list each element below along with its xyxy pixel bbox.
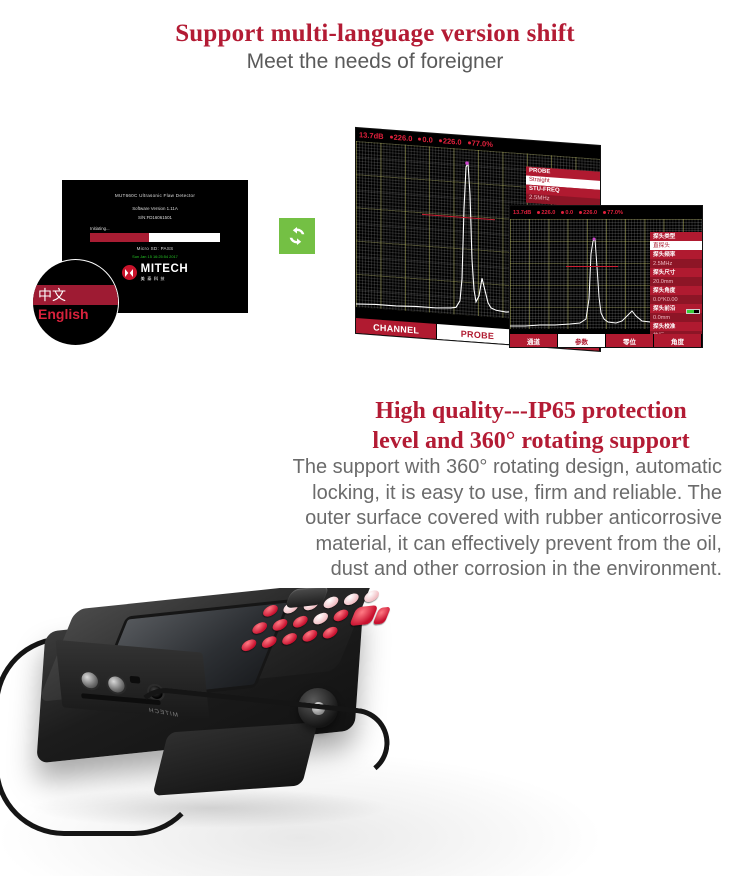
- keypad-key[interactable]: [362, 590, 381, 603]
- mitech-logo-en: MITECH: [141, 264, 189, 276]
- screen-cn-amplitude: 77.0%: [603, 210, 623, 216]
- keypad-key[interactable]: [250, 622, 269, 635]
- screen-cn-probe-type-value[interactable]: 直探头: [650, 241, 702, 250]
- language-option-english[interactable]: English: [38, 306, 89, 322]
- mitech-mark-icon: [122, 265, 137, 280]
- screen-cn-probe-size-value[interactable]: 20.0mm: [650, 277, 702, 286]
- screen-en-depth: 226.0: [439, 136, 462, 147]
- mitech-logo-cn: 美泰科技: [141, 277, 189, 281]
- mitech-wordmark: MITECH 美泰科技: [141, 264, 189, 281]
- screen-cn-ascan-plot: 探头类型 直探头 探头频率 2.5MHz 探头尺寸 20.0mm 探头角度 0.…: [510, 219, 702, 329]
- refresh-swap-icon[interactable]: [279, 218, 315, 254]
- screen-cn-probe-freq-value[interactable]: 2.5MHz: [650, 259, 702, 268]
- usb-port[interactable]: [130, 676, 141, 684]
- battery-icon: [686, 309, 700, 314]
- keypad-key[interactable]: [261, 604, 280, 617]
- language-option-chinese[interactable]: 中文: [33, 285, 118, 305]
- screen-cn-gate-line: [566, 266, 618, 267]
- screen-cn-menu-params[interactable]: 参数: [558, 334, 606, 347]
- screen-en-delay: 0.0: [418, 135, 432, 145]
- splash-progress-fill: [90, 233, 149, 242]
- splash-software-version: Software Version 1.11A: [62, 206, 248, 211]
- splash-initiating-label: Initiating...: [90, 226, 110, 231]
- bnc-connector-2[interactable]: [107, 676, 125, 693]
- screen-en-amplitude: 77.0%: [468, 138, 493, 149]
- screen-cn-probe-type-label[interactable]: 探头类型: [650, 232, 702, 241]
- screen-cn-probe-angle-label[interactable]: 探头角度: [650, 286, 702, 295]
- keypad-key[interactable]: [280, 632, 299, 645]
- feature-title-line1: High quality---IP65 protection: [340, 396, 722, 426]
- keypad-key[interactable]: [342, 593, 361, 606]
- screen-cn-probe-size-label[interactable]: 探头尺寸: [650, 268, 702, 277]
- splash-date-line: Sun Jan 15 16:25:54 2017: [62, 254, 248, 259]
- flaw-detector-screen-chinese: 13.7dB 226.0 0.0 226.0 77.0% 探头类型 直探头 探头…: [510, 206, 702, 347]
- screen-cn-delay: 0.0: [561, 210, 573, 216]
- screen-cn-probe-front-value[interactable]: 0.0mm: [650, 313, 702, 322]
- language-picker-callout[interactable]: 中文 English: [33, 260, 118, 345]
- screen-cn-menu-zero[interactable]: 零位: [606, 334, 654, 347]
- product-photo: MITECH: [0, 588, 750, 876]
- screen-cn-menu-channel[interactable]: 通道: [510, 334, 558, 347]
- promo-page: Support multi-language version shift Mee…: [0, 0, 750, 876]
- splash-model-line: MUT660C Ultrasonic Flaw Detector: [62, 193, 248, 198]
- screen-cn-bottom-menu: 通道 参数 零位 角度: [510, 334, 702, 347]
- keypad-key[interactable]: [301, 629, 320, 642]
- splash-sd-status: Micro SD: PASS: [62, 246, 248, 251]
- bnc-connector-1[interactable]: [81, 672, 99, 689]
- screen-cn-probe-cal-label[interactable]: 探头校准: [650, 322, 702, 331]
- splash-progress-bar: [90, 233, 220, 242]
- screen-en-range: 226.0: [390, 132, 413, 143]
- screen-en-gain: 13.7dB: [359, 130, 384, 141]
- page-title: Support multi-language version shift: [0, 20, 750, 48]
- page-subtitle: Meet the needs of foreigner: [0, 50, 750, 74]
- screen-cn-side-panel: 探头类型 直探头 探头频率 2.5MHz 探头尺寸 20.0mm 探头角度 0.…: [650, 232, 702, 340]
- screen-cn-depth: 226.0: [579, 210, 597, 216]
- keypad-key[interactable]: [260, 636, 279, 649]
- keypad-key[interactable]: [291, 615, 310, 628]
- screen-en-menu-probe[interactable]: PROBE: [437, 324, 518, 345]
- screen-cn-menu-angle[interactable]: 角度: [654, 334, 702, 347]
- screen-en-side-panel: PROBE Straight STU-FREQ 2.5MHz: [526, 166, 600, 207]
- screen-cn-probe-angle-value[interactable]: 0.0°K0.00: [650, 295, 702, 304]
- screen-cn-probe-freq-label[interactable]: 探头频率: [650, 250, 702, 259]
- feature-body-text: The support with 360° rotating design, a…: [278, 455, 722, 583]
- keypad-key[interactable]: [311, 612, 330, 625]
- screen-cn-gain: 13.7dB: [513, 210, 531, 216]
- keypad-key[interactable]: [321, 626, 340, 639]
- screen-cn-range: 226.0: [537, 210, 555, 216]
- screen-cn-topbar: 13.7dB 226.0 0.0 226.0 77.0%: [510, 206, 702, 219]
- splash-serial-number: S/N:FD16061501: [62, 215, 248, 220]
- feature-title: High quality---IP65 protection level and…: [340, 396, 722, 456]
- screen-en-menu-channel[interactable]: CHANNEL: [356, 318, 437, 339]
- keypad-key[interactable]: [332, 609, 351, 622]
- feature-title-line2: level and 360° rotating support: [340, 426, 722, 456]
- keypad-key[interactable]: [271, 618, 290, 631]
